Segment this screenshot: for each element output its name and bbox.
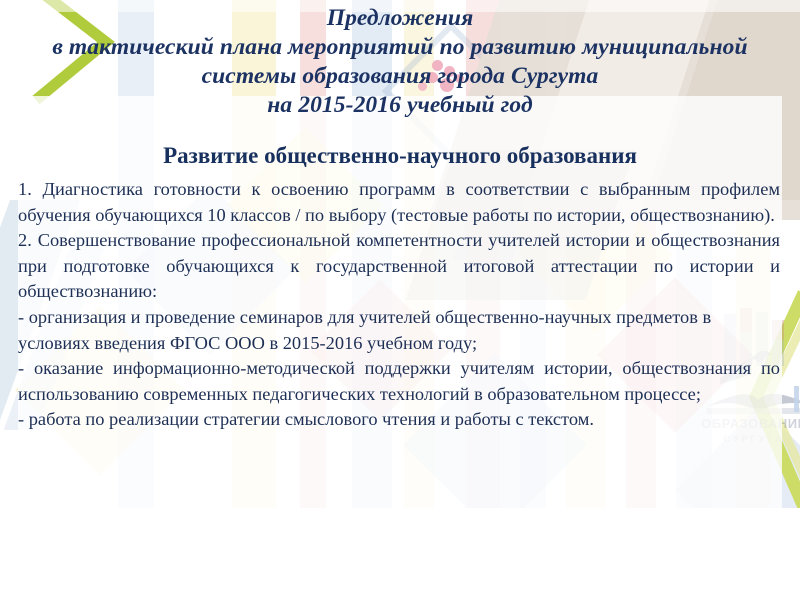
body-paragraph-5: - работа по реализации стратегии смыслов… bbox=[18, 407, 780, 433]
slide-title-line-3: системы образования города Сургута bbox=[12, 62, 788, 91]
body-paragraph-3: - организация и проведение семинаров для… bbox=[18, 305, 780, 356]
slide-body: 1. Диагностика готовности к освоению про… bbox=[18, 177, 780, 433]
slide-title-line-4: на 2015-2016 учебный год bbox=[12, 91, 788, 120]
body-paragraph-1: 1. Диагностика готовности к освоению про… bbox=[18, 177, 780, 228]
presentation-slide: ОБРАЗОВАНИЕ СУРГУТА Ё Предложения в такт… bbox=[0, 0, 800, 600]
body-paragraph-2: 2. Совершенствование профессиональной ко… bbox=[18, 228, 780, 305]
section-heading: Развитие общественно-научного образовани… bbox=[12, 142, 788, 170]
body-paragraph-4: - оказание информационно-методической по… bbox=[18, 356, 780, 407]
slide-title-line-1: Предложения bbox=[12, 4, 788, 33]
slide-title: Предложения в тактический плана мероприя… bbox=[12, 4, 788, 120]
slide-title-line-2: в тактический плана мероприятий по разви… bbox=[12, 33, 788, 62]
